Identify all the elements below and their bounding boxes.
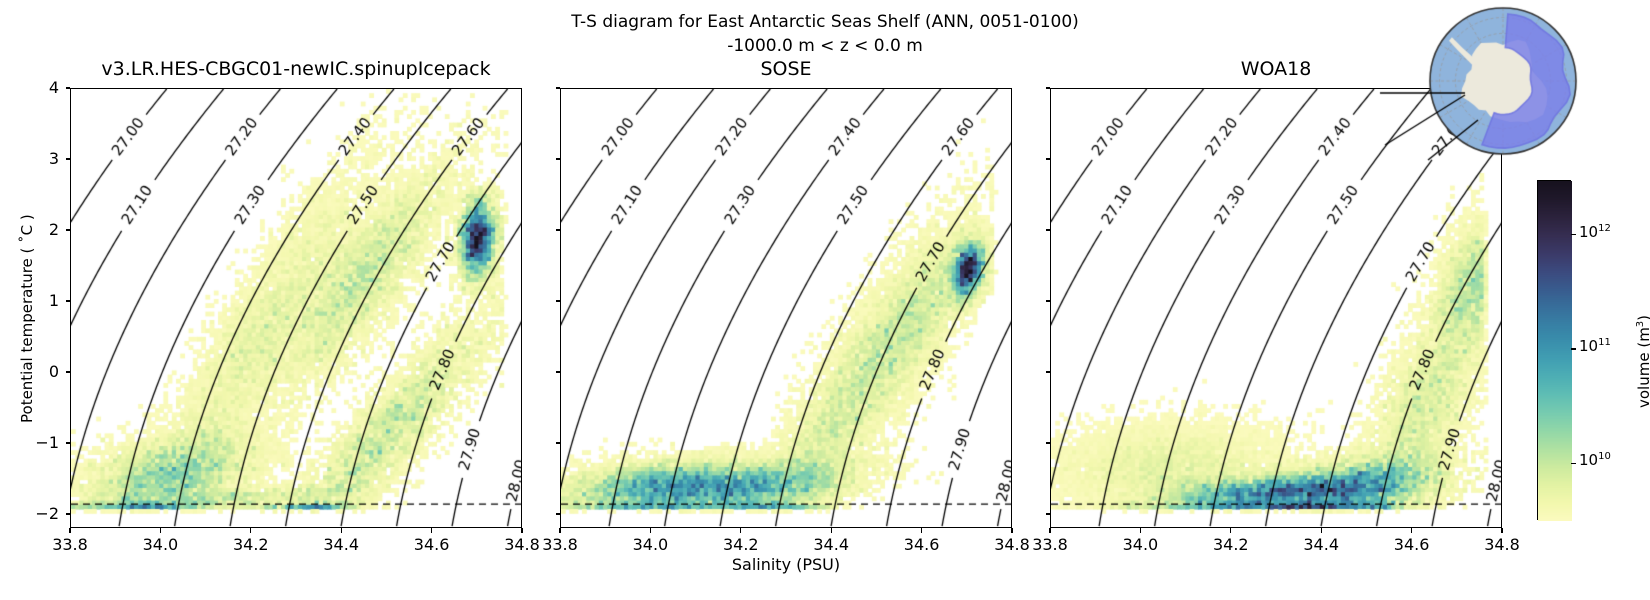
- x-tick-mark: [1011, 528, 1012, 533]
- y-tick-mark: [1046, 442, 1051, 443]
- x-tick-mark: [341, 528, 342, 533]
- x-tick-label: 34.2: [221, 535, 281, 554]
- x-tick-label: 34.8: [1472, 535, 1532, 554]
- x-tick-mark: [1230, 528, 1231, 533]
- y-tick-mark: [66, 300, 71, 301]
- x-tick-label: 34.4: [1291, 535, 1351, 554]
- x-tick-label: 34.6: [1382, 535, 1442, 554]
- y-tick-label: 2: [25, 220, 59, 239]
- x-tick-label: 34.0: [1110, 535, 1170, 554]
- y-tick-mark: [556, 87, 561, 88]
- x-tick-mark: [431, 528, 432, 533]
- colorbar-tick-label: 1011: [1579, 337, 1611, 355]
- x-tick-mark: [160, 528, 161, 533]
- x-tick-mark: [650, 528, 651, 533]
- x-tick-label: 34.6: [402, 535, 462, 554]
- y-tick-label: 0: [25, 362, 59, 381]
- y-tick-mark: [556, 229, 561, 230]
- x-tick-label: 34.0: [130, 535, 190, 554]
- x-tick-mark: [1049, 528, 1050, 533]
- antarctica-locator-map: [1428, 6, 1578, 156]
- y-tick-mark: [556, 300, 561, 301]
- y-tick-mark: [556, 513, 561, 514]
- figure-suptitle: T-S diagram for East Antarctic Seas Shel…: [0, 10, 1650, 58]
- x-tick-label: 34.8: [492, 535, 552, 554]
- colorbar-tick-mark: [1571, 463, 1576, 464]
- y-tick-mark: [556, 442, 561, 443]
- colorbar-tick-label: 1010: [1579, 451, 1611, 469]
- x-tick-mark: [921, 528, 922, 533]
- figure-root: T-S diagram for East Antarctic Seas Shel…: [0, 0, 1650, 600]
- x-tick-label: 34.4: [801, 535, 861, 554]
- y-tick-label: −1: [25, 433, 59, 452]
- x-tick-label: 34.8: [982, 535, 1042, 554]
- x-tick-mark: [521, 528, 522, 533]
- y-tick-label: 4: [25, 78, 59, 97]
- y-tick-mark: [66, 513, 71, 514]
- x-tick-mark: [831, 528, 832, 533]
- colorbar-label: volume (m3): [1635, 315, 1650, 408]
- x-tick-label: 34.4: [311, 535, 371, 554]
- x-axis-label: Salinity (PSU): [70, 555, 1502, 574]
- x-tick-label: 34.0: [620, 535, 680, 554]
- y-tick-mark: [1046, 229, 1051, 230]
- y-tick-mark: [1046, 87, 1051, 88]
- panel-title-1: SOSE: [560, 58, 1012, 80]
- y-tick-mark: [1046, 371, 1051, 372]
- y-tick-label: 1: [25, 291, 59, 310]
- y-tick-mark: [66, 442, 71, 443]
- x-tick-mark: [559, 528, 560, 533]
- panel-title-0: v3.LR.HES-CBGC01-newIC.spinupIcepack: [70, 58, 522, 80]
- ts-diagram-panel-1: [560, 88, 1012, 528]
- y-tick-mark: [66, 158, 71, 159]
- y-tick-mark: [66, 87, 71, 88]
- x-tick-mark: [250, 528, 251, 533]
- ts-diagram-panel-0: [70, 88, 522, 528]
- x-tick-mark: [1411, 528, 1412, 533]
- y-axis-label: Potential temperature ( ˚C ): [18, 214, 36, 423]
- x-tick-mark: [1501, 528, 1502, 533]
- y-tick-mark: [556, 158, 561, 159]
- y-tick-mark: [66, 229, 71, 230]
- colorbar-tick-label: 1012: [1579, 223, 1611, 241]
- x-tick-mark: [740, 528, 741, 533]
- x-tick-label: 34.2: [711, 535, 771, 554]
- y-tick-label: −2: [25, 504, 59, 523]
- x-tick-mark: [69, 528, 70, 533]
- colorbar-tick-mark: [1571, 234, 1576, 235]
- x-tick-label: 33.8: [40, 535, 100, 554]
- y-tick-mark: [66, 371, 71, 372]
- x-tick-mark: [1321, 528, 1322, 533]
- colorbar-tick-mark: [1571, 348, 1576, 349]
- y-tick-label: 3: [25, 149, 59, 168]
- x-tick-mark: [1140, 528, 1141, 533]
- y-tick-mark: [556, 371, 561, 372]
- y-tick-mark: [1046, 158, 1051, 159]
- x-tick-label: 34.6: [892, 535, 952, 554]
- y-tick-mark: [1046, 300, 1051, 301]
- x-tick-label: 34.2: [1201, 535, 1261, 554]
- y-tick-mark: [1046, 513, 1051, 514]
- colorbar[interactable]: [1537, 180, 1571, 520]
